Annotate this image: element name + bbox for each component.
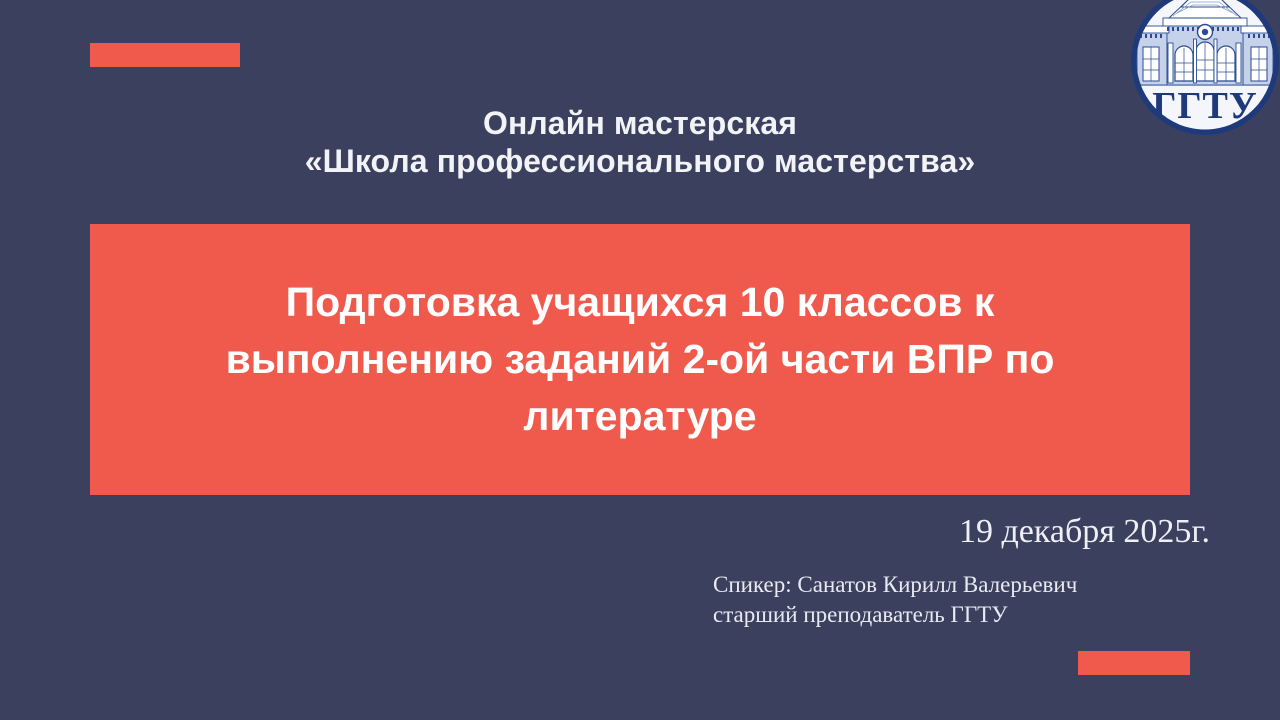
presentation-slide: Онлайн мастерская «Школа профессионально… xyxy=(0,0,1280,720)
header-line-2: «Школа профессионального мастерства» xyxy=(90,142,1190,180)
ggtu-emblem-icon: ГГТУ xyxy=(1129,0,1280,137)
speaker-info: Спикер: Санатов Кирилл Валерьевич старши… xyxy=(713,570,1077,630)
page-title: Подготовка учащихся 10 классов к выполне… xyxy=(148,274,1132,445)
header-line-1: Онлайн мастерская xyxy=(90,104,1190,142)
speaker-position: старший преподаватель ГГТУ xyxy=(713,600,1077,630)
university-logo-ggtu: ГГТУ xyxy=(1129,0,1280,137)
speaker-name: Спикер: Санатов Кирилл Валерьевич xyxy=(713,570,1077,600)
event-date: 19 декабря 2025г. xyxy=(959,512,1210,552)
accent-bar-bottom-right xyxy=(1078,651,1190,675)
slide-header: Онлайн мастерская «Школа профессионально… xyxy=(90,104,1190,180)
title-block: Подготовка учащихся 10 классов к выполне… xyxy=(90,224,1190,495)
accent-bar-top-left xyxy=(90,43,240,67)
